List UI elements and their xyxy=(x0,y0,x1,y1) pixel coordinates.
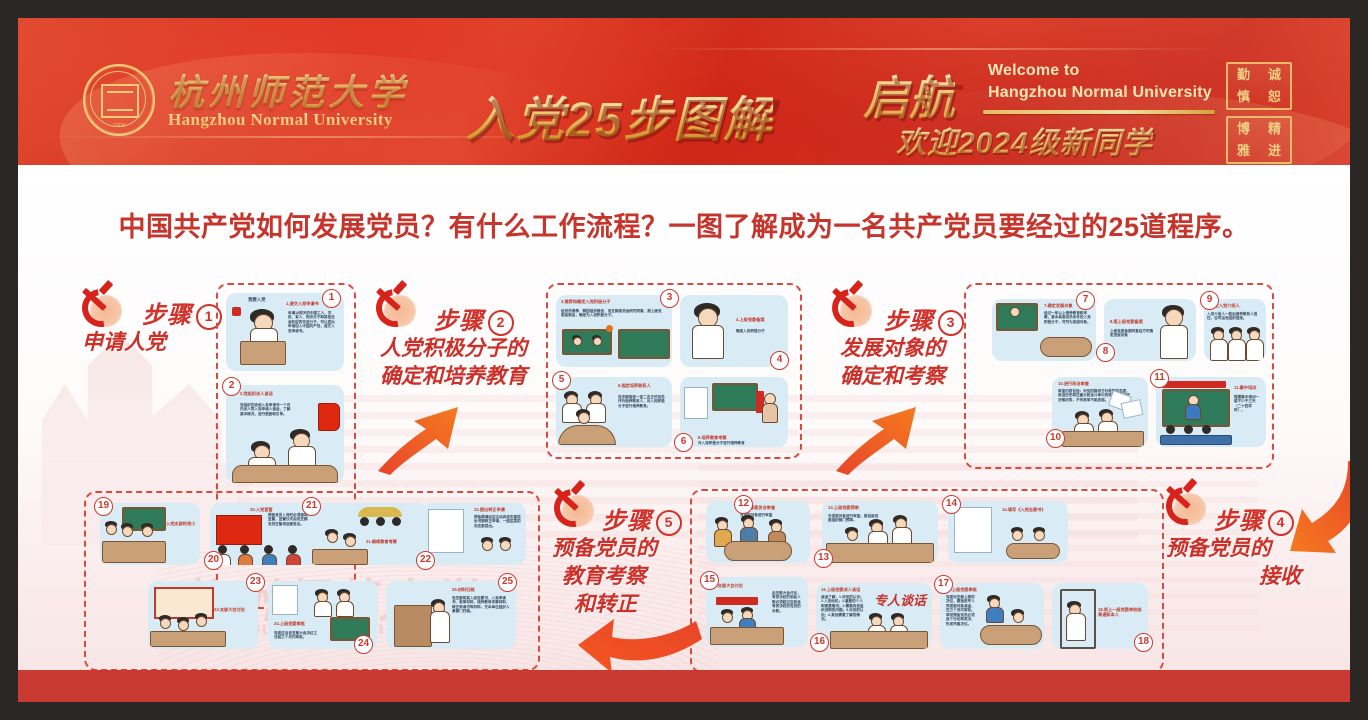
step-4-arrow-icon xyxy=(1268,455,1350,565)
step-2-arrow-icon xyxy=(374,395,464,475)
step-2-label: 步骤2 人党积极分子的 确定和培养教育 xyxy=(366,285,556,445)
panel-1-body: 年满18周岁的中国工人、农民、军人、知识分子和其他社会阶层的先进分子，可以提出申… xyxy=(288,311,338,333)
panel-5: 5.指定培养联系人 党支部指定一至二名正式党员作为培养联系人，对入党积极分子进行… xyxy=(556,377,672,447)
panel-2-title: 2.党组织派人谈话 xyxy=(240,391,310,396)
panel-2-badge: 2 xyxy=(222,377,241,396)
step-3-heading: 步骤3 xyxy=(884,301,964,336)
panel-18-badge: 18 xyxy=(1134,633,1153,652)
panel-14: 14.填写《入党志愿书》 xyxy=(948,501,1068,563)
panel-15: 15.支部大会讨论 由支部大会讨论，有表决权的到会人数必须超过应到会有表决权的党… xyxy=(706,577,808,647)
panel-14-title: 14.填写《入党志愿书》 xyxy=(1002,507,1064,512)
motto-char-7: 雅 xyxy=(1228,142,1259,161)
welcome-line-1: Welcome to xyxy=(988,62,1080,80)
poster-subtitle: 中国共产党如何发展党员？有什么工作流程？一图了解成为一名共产党员要经过的25道程… xyxy=(18,205,1350,244)
panel-15-title: 15.支部大会讨论 xyxy=(712,583,768,588)
panel-3: 3.推荐和确定入党积极分子 经党员推荐、群团组织推优、党支部委员会研究同意，报上… xyxy=(556,295,672,367)
motto-seal-top: 勤 诚 慎 恕 xyxy=(1226,62,1292,110)
step-5-arrow-icon xyxy=(576,613,706,670)
panel-4-body: 确定入党积极分子 xyxy=(736,329,782,333)
panel-7-badge: 7 xyxy=(1076,291,1095,310)
step-2-heading: 步骤2 xyxy=(434,301,514,336)
panel-20-badge: 20 xyxy=(204,551,223,570)
panel-19-badge: 19 xyxy=(94,497,113,516)
panel-16-body: 谈话了解：1.对党的认识；2.入党动机；3.重要的个人和家庭情况；4.需要向党组… xyxy=(821,595,865,622)
panel-11: 11.集中培训 短期集中培训一般不少于三天（二十四学时）。 xyxy=(1156,377,1266,447)
panel-16: 16.上级党委派人谈话 谈话了解：1.对党的认识；2.入党动机；3.重要的个人和… xyxy=(816,583,932,649)
step-2-title-line2: 确定和培养教育 xyxy=(380,363,527,390)
panel-3-title: 3.推荐和确定入党积极分子 xyxy=(561,299,651,304)
poster-header: 1908 杭州师范大学 Hangzhou Normal University 入… xyxy=(18,18,1350,165)
party-emblem-icon-3 xyxy=(830,285,874,327)
panel-13-title: 13.上级党委预审 xyxy=(828,505,884,510)
panel-23-title: 23.支部大会讨论 xyxy=(214,607,254,612)
panel-24-badge: 24 xyxy=(354,635,373,654)
poster-root: 1908 杭州师范大学 Hangzhou Normal University 入… xyxy=(18,18,1350,702)
step-5-title-line2: 教育考察 xyxy=(562,563,646,590)
panel-6-badge: 6 xyxy=(674,433,693,452)
panel-17-badge: 17 xyxy=(934,575,953,594)
panel-10-badge: 10 xyxy=(1046,429,1065,448)
university-name-en: Hangzhou Normal University xyxy=(168,110,393,130)
panel-6-body: 对入党积极分子进行培养教育 xyxy=(698,441,778,445)
step-4-group: 12.支部委员会审查 对发展对象进行审查 12 13.上级党委预审 对发展对象进… xyxy=(690,489,1164,670)
panel-16-title: 16.上级党委派人谈话 xyxy=(821,587,865,592)
panel-12-badge: 12 xyxy=(734,495,753,514)
step-4-label-text: 步骤 xyxy=(1214,508,1264,535)
motto-char-8: 进 xyxy=(1259,142,1290,161)
panel-24-title: 24.上级党委审批 xyxy=(274,621,320,626)
panel-22: 22.提出转正申请 预备期满后应主动向党支部提出书面转正申请，一般应提前向支部提… xyxy=(422,503,526,565)
university-name-cn: 杭州师范大学 xyxy=(168,64,408,116)
party-emblem-icon-2 xyxy=(374,285,418,327)
panel-25-badge: 25 xyxy=(498,573,517,592)
poster-main-title: 入党25步图解 xyxy=(466,80,773,150)
step-2-label-text: 步骤 xyxy=(434,308,484,335)
panel-1-caption: 我要入党 xyxy=(248,297,266,303)
panel-21-badge: 21 xyxy=(302,497,321,516)
motto-char-6: 精 xyxy=(1259,120,1290,139)
step-3-arrow-icon xyxy=(832,395,922,475)
panel-17: 17.上级党委审批 党委对支部上报的决议，要指定专人同发展对象谈话，在三个月内审… xyxy=(940,583,1044,649)
step-3-group: 7.确定发展对象 经过一年以上培养教育和考察，基本具备党员条件的入党积极分子，可… xyxy=(964,283,1274,469)
panel-9-badge: 9 xyxy=(1200,291,1219,310)
panel-15-badge: 15 xyxy=(700,571,719,590)
panel-15-body: 由支部大会讨论，有表决权的到会人数必须超过应到会有表决权的党员的半数。 xyxy=(772,591,804,613)
poster-body: 杭州师范大学 Hangzhou Normal University 中国共产党如… xyxy=(18,165,1350,670)
panel-17-title: 17.上级党委审批 xyxy=(946,587,998,592)
welcome-line-2: Hangzhou Normal University xyxy=(988,84,1212,102)
step-5-number: 5 xyxy=(656,510,682,536)
welcome-cn: 欢迎2024级新同学 xyxy=(896,118,1153,162)
motto-char-2: 诚 xyxy=(1259,66,1290,85)
panel-2-body: 党组织在收到入党申请书一个月内派人同入党申请人谈话，了解基本情况，进行鼓励和引导… xyxy=(240,403,292,416)
panel-10-title: 10.进行政治审查 xyxy=(1058,381,1144,386)
step-4-label: 步骤4 预备党员的 接收 xyxy=(1158,483,1348,613)
panel-17-body: 党委对支部上报的决议，要指定专人同发展对象谈话，在三个月内审批。审批预备党员必须… xyxy=(946,595,978,626)
step-1-heading: 步骤1 xyxy=(142,295,222,330)
party-emblem-icon-5 xyxy=(552,485,596,527)
poster-footer-band xyxy=(18,670,1350,702)
panel-4-title: 4.上级党委备案 xyxy=(736,317,782,322)
university-motto: 勤 诚 慎 恕 博 精 雅 进 xyxy=(1226,62,1292,165)
panel-20-title: 20.入党宣誓 xyxy=(250,507,280,512)
step-3-number: 3 xyxy=(938,310,964,336)
panel-8-badge: 8 xyxy=(1096,343,1115,362)
panel-11-title: 11.集中培训 xyxy=(1234,385,1262,390)
step-5-label: 步骤5 预备党员的 教育考察 和转正 xyxy=(546,485,716,665)
motto-char-3: 慎 xyxy=(1228,88,1259,107)
step-2-title-line1: 人党积极分子的 xyxy=(380,335,527,362)
panel-21-title: 21.继续教育考察 xyxy=(366,539,410,544)
motto-char-5: 博 xyxy=(1228,120,1259,139)
motto-char-1: 勤 xyxy=(1228,66,1259,85)
step-4-title-line1: 预备党员的 xyxy=(1166,535,1271,562)
panel-6-title: 6.培养教育考察 xyxy=(698,435,778,440)
party-emblem-icon-4 xyxy=(1164,483,1208,525)
panel-8-title: 8.报上级党委备案 xyxy=(1110,319,1154,324)
panel-9-body: 入党介绍人一般由培养联系人担任，也可由党组织指定。 xyxy=(1207,312,1263,321)
step-3-title-line1: 发展对象的 xyxy=(840,335,945,362)
step-5-title-line1: 预备党员的 xyxy=(552,535,657,562)
panel-22-badge: 22 xyxy=(416,551,435,570)
step-3-title-line2: 确定和考察 xyxy=(840,363,945,390)
motto-char-4: 恕 xyxy=(1259,88,1290,107)
panel-25-body: 党支部将其入党志愿书、入党申请书、政审材料、培养教育考察材料、转正申请书等材料，… xyxy=(452,596,510,614)
panel-10: 10.进行政治审查 审查内容包括：对党的路线方针政策的态度，政治历史和在重大政治… xyxy=(1052,377,1148,447)
panel-16-badge: 16 xyxy=(810,633,829,652)
panel-23-badge: 23 xyxy=(246,573,265,592)
panel-8: 8.报上级党委备案 上级党委备案同意后方可确定发展对象 xyxy=(1104,299,1196,361)
panel-11-body: 短期集中培训一般不少于三天（二十四学时）。 xyxy=(1234,395,1262,413)
panel-5-body: 党支部指定一至二名正式党员作为培养联系人，对入党积极分子进行培养教育。 xyxy=(618,395,666,408)
panel-8-body: 上级党委备案同意后方可确定发展对象 xyxy=(1110,329,1156,338)
panel-21: 21.继续教育考察 xyxy=(308,503,428,565)
panel-22-title: 22.提出转正申请 xyxy=(474,507,522,512)
university-seal-icon: 1908 xyxy=(83,64,155,136)
panel-22-body: 预备期满后应主动向党支部提出书面转正申请，一般应提前向支部提出。 xyxy=(474,515,522,528)
panel-13: 13.上级党委预审 对发展对象进行审查，报县级党委组织部门预审。 xyxy=(822,501,938,563)
motto-seal-bottom: 博 精 雅 进 xyxy=(1226,116,1292,164)
panel-3-body: 经党员推荐、群团组织推优、党支部委员会研究同意，报上级党委备案后，确定为入党积极… xyxy=(561,309,665,318)
step-3-label-text: 步骤 xyxy=(884,308,934,335)
panel-14-badge: 14 xyxy=(942,495,961,514)
step-1-title: 申请人党 xyxy=(82,329,166,356)
panel-7-body: 经过一年以上培养教育和考察，基本具备党员条件的入党积极分子，可列为发展对象。 xyxy=(1044,311,1092,324)
panel-24-body: 党委应当自支部大会决议之日起三个月内审批。 xyxy=(274,631,320,640)
seal-year: 1908 xyxy=(85,123,153,129)
panel-16-caption: 专人谈话 xyxy=(874,593,926,609)
panel-12: 12.支部委员会审查 对发展对象进行审查 xyxy=(706,501,810,563)
step-4-title-line2: 接收 xyxy=(1166,563,1301,590)
panel-13-badge: 13 xyxy=(814,549,833,568)
party-emblem-icon-1 xyxy=(80,285,124,327)
panel-4-badge: 4 xyxy=(770,351,789,370)
panel-6: 6.培养教育考察 对入党积极分子进行培养教育 xyxy=(680,377,788,447)
step-5-heading: 步骤5 xyxy=(602,501,682,536)
step-1-label-text: 步骤 xyxy=(142,302,192,329)
panel-19: 19.编入党支部和党小组 xyxy=(100,503,200,565)
step-5-group: 19.编入党支部和党小组 19 20.入党宣誓 预备党员入党时必须面向党旗进行宣… xyxy=(84,491,540,670)
panel-2: 2.党组织派人谈话 党组织在收到入党申请书一个月内派人同入党申请人谈话，了解基本… xyxy=(226,385,344,483)
header-gold-rule xyxy=(983,110,1215,114)
step-5-label-text: 步骤 xyxy=(602,508,652,535)
panel-18-title: 18.将上一级党委审批结果通知本人 xyxy=(1098,607,1144,618)
panel-5-badge: 5 xyxy=(552,371,571,390)
panel-5-title: 5.指定培养联系人 xyxy=(618,383,666,388)
panel-3-badge: 3 xyxy=(660,289,679,308)
panel-23: 23.支部大会讨论 xyxy=(148,581,258,649)
panel-1-badge: 1 xyxy=(322,289,341,308)
header-ribbon-line-2 xyxy=(658,48,1218,50)
panel-25: 25.材料归档 党支部将其入党志愿书、入党申请书、政审材料、培养教育考察材料、转… xyxy=(386,581,516,649)
step-2-group: 3.推荐和确定入党积极分子 经党员推荐、群团组织推优、党支部委员会研究同意，报上… xyxy=(546,283,802,459)
panel-11-badge: 11 xyxy=(1150,369,1169,388)
step-2-number: 2 xyxy=(488,310,514,336)
